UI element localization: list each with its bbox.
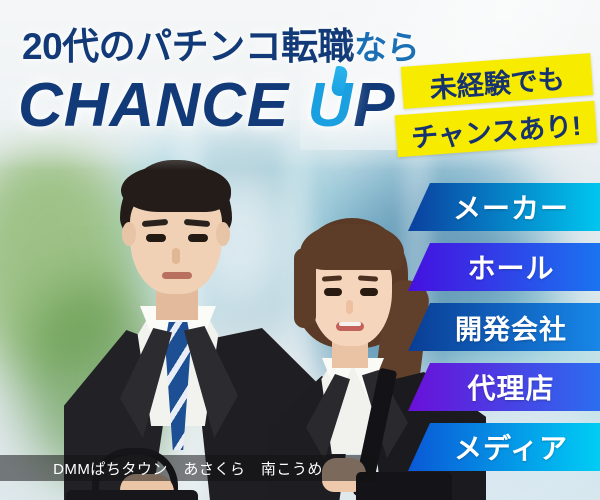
headline-suffix-text: なら — [354, 29, 419, 66]
headline-main-text: 20代のパチンコ転職 — [22, 26, 354, 67]
man-ear-left — [122, 222, 136, 246]
category-button-maker[interactable]: メーカー — [408, 183, 600, 231]
logo-letter-u: U — [307, 70, 353, 141]
woman-eye-left — [324, 288, 342, 296]
category-label: ホール — [467, 247, 554, 287]
logo-word-chance: CHANCE — [18, 71, 307, 140]
man-ear-right — [216, 222, 230, 246]
category-button-hall[interactable]: ホール — [408, 243, 600, 291]
category-label: メディア — [454, 427, 568, 467]
category-label: 開発会社 — [455, 308, 567, 347]
category-list: メーカー ホール 開発会社 代理店 メディア — [408, 183, 600, 483]
logo-letter-p: P — [353, 71, 395, 140]
woman-eye-right — [360, 288, 378, 296]
brand-logo: CHANCE UP — [18, 70, 396, 141]
category-button-media[interactable]: メディア — [408, 423, 600, 471]
man-eye-right — [188, 234, 208, 242]
page-title: 20代のパチンコ転職なら — [22, 16, 419, 70]
man-fringe — [121, 166, 231, 212]
credit-text: DMMぱちタウン あさくら 南こうめ — [0, 455, 376, 481]
category-label: 代理店 — [467, 367, 554, 407]
man-mouth — [162, 272, 192, 279]
category-button-agency[interactable]: 代理店 — [408, 363, 600, 411]
man-eye-left — [146, 234, 166, 242]
woman-teeth — [339, 322, 361, 326]
woman-nose — [346, 300, 353, 314]
category-button-developer[interactable]: 開発会社 — [408, 303, 600, 351]
recruit-banner: 20代のパチンコ転職なら CHANCE UP 未経験でも チャンスあり! メーカ… — [0, 0, 600, 500]
woman-bangs — [300, 224, 404, 270]
man-briefcase — [66, 490, 198, 500]
category-label: メーカー — [453, 187, 569, 227]
man-nose — [172, 248, 180, 264]
badge-label: 未経験でも — [428, 57, 565, 106]
